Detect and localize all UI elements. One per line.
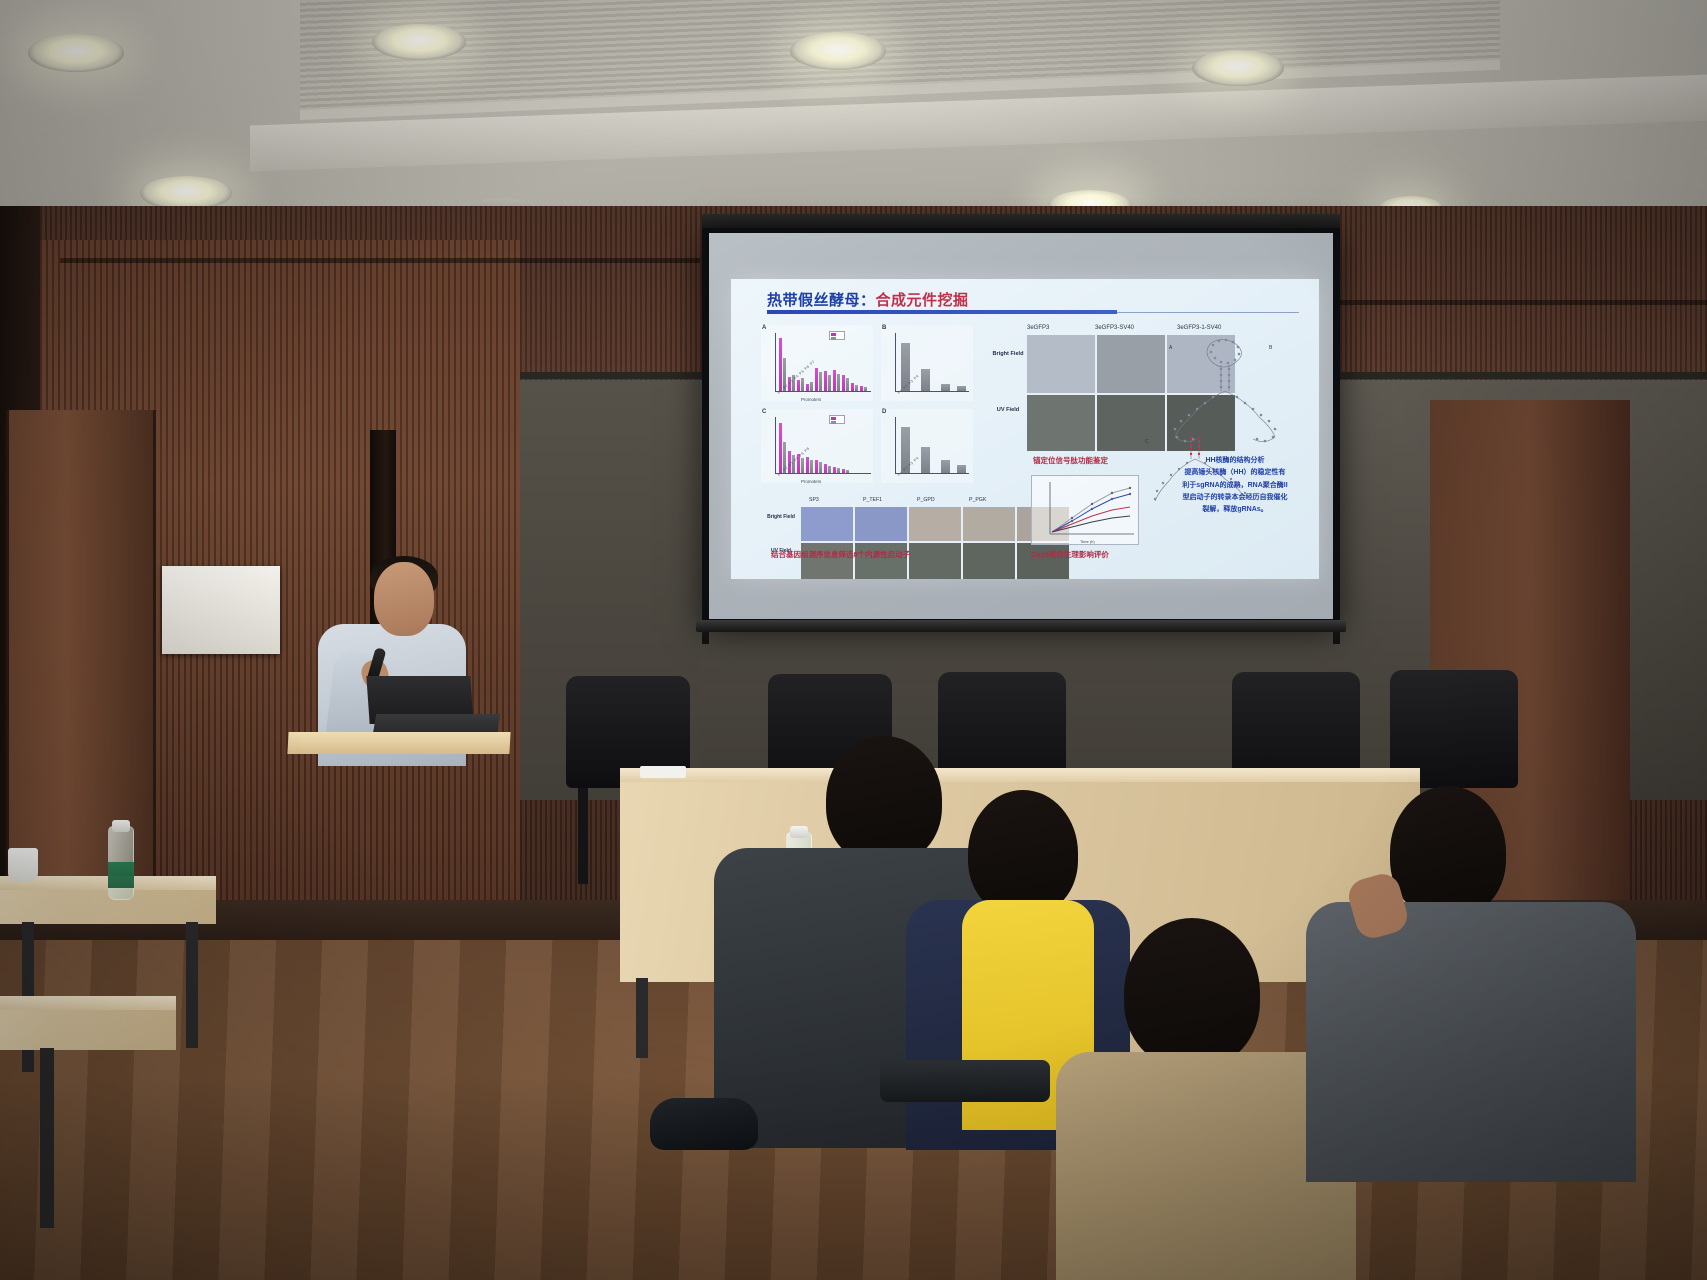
microscopy-bottom-col-3: P_GPD (917, 497, 935, 503)
y-axis (895, 333, 896, 391)
title-underline (767, 310, 1117, 314)
ceiling-light (1192, 50, 1284, 86)
micro-cell (963, 507, 1015, 541)
wall-trim-line (1340, 300, 1707, 305)
svg-text:Time (h): Time (h) (1080, 539, 1095, 544)
projector-screen: 热带假丝酵母：合成元件挖掘 A (702, 228, 1340, 624)
bar-chart-panel-d: D P1 P2 P3 P4 (881, 409, 973, 483)
microscopy-bottom-col-4: P_PGK (969, 497, 986, 503)
rna-text-line-1: HH核酶的结构分析 (1159, 455, 1311, 467)
shoe (650, 1098, 758, 1150)
x-axis-label: Promoters (801, 479, 821, 484)
slide-title-main: 热带假丝酵母 (767, 292, 860, 309)
microscopy-col-header-2: 3eGFP3-SV40 (1095, 325, 1134, 331)
podium-top-surface (287, 732, 510, 754)
line-chart-cas9: Time (h) (1031, 475, 1139, 545)
microscopy-row-label-bright: Bright Field (991, 351, 1025, 357)
rna-panel-b: B (1269, 345, 1273, 351)
x-axis (895, 473, 969, 474)
projector-screen-surface: 热带假丝酵母：合成元件挖掘 A (709, 233, 1333, 619)
wall-trim-line (60, 258, 700, 263)
table-front-panel (0, 1010, 176, 1050)
microscopy-bottom-col-2: P_TEF1 (863, 497, 882, 503)
micro-cell (801, 507, 853, 541)
panel-label-d: D (882, 409, 886, 415)
caption-linechart: Cas9蛋白生理影响评价 (1031, 549, 1109, 560)
microscopy-bottom-row-bright: Bright Field (765, 515, 797, 521)
microscopy-col-header-1: 3eGFP3 (1027, 325, 1049, 331)
rna-text-line-3: 利于sgRNA的成熟，RNA聚合酶II (1159, 480, 1311, 492)
bar-chart-panel-a: A (761, 325, 873, 401)
ceiling-light (372, 24, 466, 60)
bar-chart-panel-b: B P1 P2 P3 P4 (881, 325, 973, 401)
ceiling-light (140, 176, 232, 210)
bottle-cap (112, 820, 130, 832)
table-leg (636, 978, 648, 1058)
micro-cell (909, 507, 961, 541)
table-leg (186, 922, 198, 1048)
caption-microscopy-bottom: 结合基因组测序信息筛选8个内源性启动子 (771, 549, 910, 560)
micro-cell (909, 543, 961, 579)
panel-label-a: A (762, 325, 766, 331)
microscopy-row-label-uv: UV Field (991, 407, 1025, 413)
table-leg (40, 1048, 54, 1228)
presentation-slide: 热带假丝酵母：合成元件挖掘 A (731, 279, 1319, 579)
slide-title: 热带假丝酵母：合成元件挖掘 (767, 289, 969, 310)
x-axis-label: Promoters (801, 397, 821, 402)
rna-text-line-4: 型启动子的转录本会经历自我催化 (1159, 492, 1311, 504)
legend-a (829, 331, 845, 340)
speaker-head (374, 562, 434, 636)
chair-seat (880, 1060, 1050, 1102)
micro-cell (855, 507, 907, 541)
chair-post (578, 788, 588, 884)
projector-screen-weight-bar (696, 620, 1346, 632)
panel-label-c: C (762, 409, 766, 415)
micro-cell (963, 543, 1015, 579)
microscopy-grid-bottom (801, 507, 1069, 579)
bottle-label (108, 862, 134, 888)
paper-cup (8, 848, 38, 882)
line-chart-svg: Time (h) (1032, 476, 1140, 546)
x-axis (775, 391, 871, 392)
tissue-pack (640, 766, 686, 778)
legend-c (829, 415, 845, 424)
microscopy-bottom-col-1: SP3 (809, 497, 819, 503)
wall-whiteboard (162, 566, 280, 654)
bar-chart-panel-c: C (761, 409, 873, 483)
bottle-cap (790, 826, 808, 838)
rna-text-line-5: 裂解，释放gRNAs。 (1159, 504, 1311, 516)
micro-cell (1027, 395, 1095, 451)
rna-panel-a: A (1169, 345, 1173, 351)
y-axis (775, 417, 776, 473)
microscopy-col-header-3: 3eGFP3-1-SV40 (1177, 325, 1221, 331)
title-underline-thin (1117, 312, 1299, 313)
rna-text-line-2: 提高锤头核酶（HH）的稳定性有 (1159, 467, 1311, 479)
lecture-room-photo: 热带假丝酵母：合成元件挖掘 A (0, 0, 1707, 1280)
slide-title-sub: 合成元件挖掘 (876, 292, 969, 309)
x-axis (775, 473, 871, 474)
ceiling-light (790, 32, 886, 70)
slide-title-colon: ： (860, 292, 876, 309)
rna-explanation-text: HH核酶的结构分析 提高锤头核酶（HH）的稳定性有 利于sgRNA的成熟，RNA… (1159, 455, 1311, 516)
y-axis (895, 417, 896, 473)
micro-cell (1027, 335, 1095, 393)
ceiling-light (28, 34, 124, 72)
panel-label-b: B (882, 325, 886, 331)
y-axis (775, 333, 776, 391)
caption-microscopy-top: 锚定位信号肽功能鉴定 (1033, 455, 1108, 466)
rna-panel-c: C (1145, 439, 1149, 445)
x-axis (895, 391, 969, 392)
